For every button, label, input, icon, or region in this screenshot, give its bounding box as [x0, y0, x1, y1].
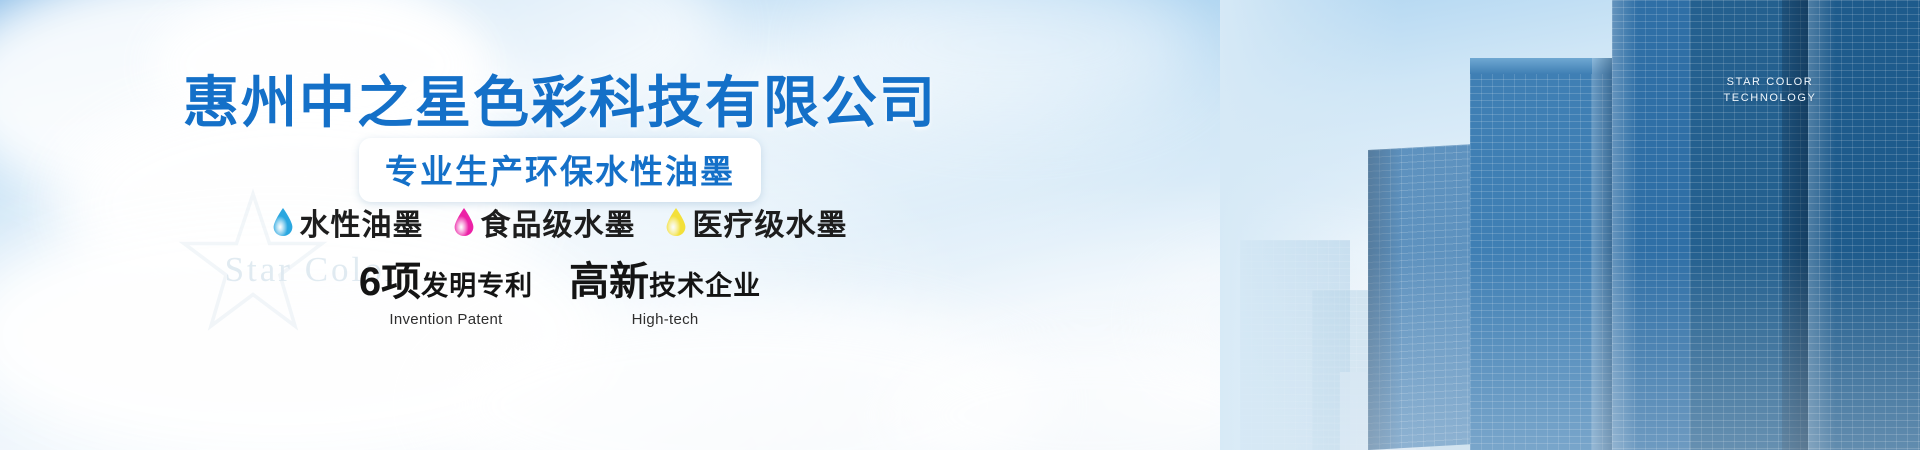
brand-mark-star-color-technology: STAR COLOR TECHNOLOGY [1708, 74, 1832, 106]
credential-english-label: High-tech [569, 311, 761, 328]
credential-item: 6项发明专利Invention Patent [359, 262, 533, 328]
ink-product-item: 食品级水墨 [454, 200, 636, 244]
ink-product-item: 水性油墨 [273, 200, 424, 244]
ink-product-label: 水性油墨 [300, 200, 424, 244]
ink-product-label: 医疗级水墨 [693, 200, 848, 244]
ink-product-list: 水性油墨食品级水墨医疗级水墨 [0, 200, 1120, 244]
brand-mark-line-2: TECHNOLOGY [1708, 90, 1832, 106]
city-skyline-image [1220, 0, 1920, 450]
subtitle-pill: 专业生产环保水性油墨 [359, 138, 761, 202]
company-hero-banner: STAR COLOR TECHNOLOGY Star Color 惠州中之星色彩… [0, 0, 1920, 450]
credential-chinese-line: 6项发明专利 [359, 262, 533, 302]
ink-product-label: 食品级水墨 [481, 200, 636, 244]
credential-highlight: 高新 [569, 260, 649, 304]
credential-rest: 技术企业 [649, 271, 761, 301]
skyline-left-fade [1220, 0, 1400, 450]
credential-rest: 发明专利 [421, 271, 533, 301]
banner-content: 惠州中之星色彩科技有限公司 专业生产环保水性油墨 水性油墨食品级水墨医疗级水墨 … [0, 0, 1120, 450]
page-title: 惠州中之星色彩科技有限公司 [0, 58, 1120, 139]
credential-highlight: 6项 [359, 260, 421, 304]
water-drop-icon [454, 208, 474, 236]
credential-english-label: Invention Patent [359, 311, 533, 328]
credentials-list: 6项发明专利Invention Patent高新技术企业High-tech [0, 262, 1120, 328]
credential-chinese-line: 高新技术企业 [569, 262, 761, 302]
subtitle-row: 专业生产环保水性油墨 [0, 138, 1120, 202]
water-drop-icon [666, 208, 686, 236]
water-drop-icon [273, 208, 293, 236]
brand-mark-line-1: STAR COLOR [1708, 74, 1832, 90]
credential-item: 高新技术企业High-tech [569, 262, 761, 328]
ink-product-item: 医疗级水墨 [666, 200, 848, 244]
